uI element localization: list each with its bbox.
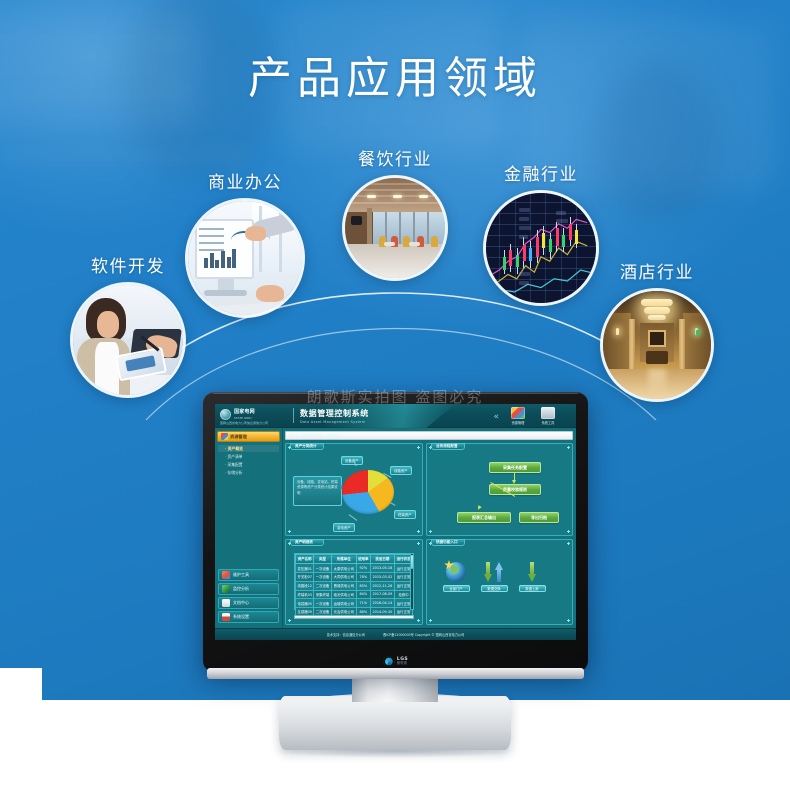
photo-restaurant-hall bbox=[345, 178, 445, 278]
app-title-en: Data Asset Management System bbox=[300, 420, 369, 424]
panel-pin-icon[interactable] bbox=[429, 542, 432, 545]
panel-title: 快捷功能入口 bbox=[431, 539, 465, 546]
sidebar-button-label: 维护工具 bbox=[233, 572, 249, 578]
table-cell-r2c4: 2012-11-26 bbox=[370, 581, 395, 590]
table-cell-r2c3: 85% bbox=[356, 581, 370, 590]
quick-tile-transfer[interactable]: 数据交换 bbox=[479, 562, 509, 592]
table-row[interactable]: 电容器05一次设备运城供电公司71%2016-04-14运行正常 bbox=[296, 599, 413, 608]
table-column-header-0[interactable]: 资产名称 bbox=[296, 555, 314, 564]
table-row[interactable]: 线路段12二次设备晋城供电公司85%2012-11-26运行正常 bbox=[296, 581, 413, 590]
panel-pin-icon[interactable] bbox=[288, 446, 291, 449]
app-sidebar: 资源管理 · 资产概览 · 资产清单 · 采集配置 · 存储分析 维护工具 监控… bbox=[215, 428, 283, 628]
sidebar-button-maintenance-tools[interactable]: 维护工具 bbox=[218, 569, 279, 581]
flow-button-collect[interactable]: 采集任务配置 bbox=[489, 462, 541, 473]
monitor-silver-rim bbox=[207, 668, 584, 679]
category-photo-office bbox=[185, 198, 305, 318]
brand-name-en: STATE GRID bbox=[234, 416, 255, 420]
panel-asset-pie: 资产分类统计 设备、线路、变电站、终端资源等资产分类统计结果说明 设备资产 线路… bbox=[285, 443, 423, 536]
photo-woman-with-tablet bbox=[73, 285, 183, 395]
quick-tile-portal[interactable]: 全景门户 bbox=[441, 562, 471, 592]
color-blocks-icon bbox=[221, 433, 228, 440]
header-tool-resource-manage[interactable]: 资源管理 bbox=[504, 407, 532, 425]
sidebar-item-resource-manage[interactable]: 资源管理 bbox=[217, 431, 280, 442]
pie-callout-3: 变电资产 bbox=[333, 523, 355, 532]
panel-pin-icon[interactable] bbox=[567, 619, 570, 622]
monitor-device: 国家电网 STATE GRID 国网山西省电力公司信息通信分公司 数据管理控制系… bbox=[203, 392, 588, 672]
category-label: 酒店行业 bbox=[557, 258, 757, 283]
panel-process-flow: 业务流程配置 采集任务配置 质量校验规则 报表汇总输出 导出归档 bbox=[426, 443, 573, 536]
table-cell-r3c2: 临汾供电公司 bbox=[331, 590, 356, 599]
table-cell-r4c3: 71% bbox=[356, 599, 370, 608]
collapse-chevron-icon[interactable]: « bbox=[493, 412, 498, 422]
table-cell-r0c4: 2013-05-18 bbox=[370, 564, 395, 573]
breadcrumb-text: 首页 > 数据资产管理 > 资产概览 bbox=[290, 433, 341, 438]
flow-button-report[interactable]: 报表汇总输出 bbox=[457, 512, 511, 523]
quick-tile-upload[interactable]: 数据上报 bbox=[517, 562, 547, 592]
app-brand: 国家电网 STATE GRID bbox=[220, 408, 255, 420]
app-title: 数据管理控制系统 bbox=[300, 408, 369, 419]
category-photo-finance bbox=[483, 190, 599, 306]
panel-pin-icon[interactable] bbox=[288, 542, 291, 545]
footer-support: 技术支持：信息通信分公司 bbox=[327, 632, 365, 637]
table-vertical-scrollbar[interactable] bbox=[410, 553, 414, 610]
up-down-arrows-icon bbox=[483, 562, 505, 582]
table-row[interactable]: 开关柜07一次设备大同供电公司78%2015-03-02运行正常 bbox=[296, 572, 413, 581]
monitor-logo: LGS 朗歌斯 bbox=[383, 656, 408, 667]
pie-callout-2: 终端资产 bbox=[394, 510, 416, 519]
table-cell-r1c0: 开关柜07 bbox=[296, 572, 314, 581]
scrollbar-thumb[interactable] bbox=[296, 616, 381, 618]
table-row[interactable]: 终端机03采集终端临汾供电公司64%2017-08-09检修中 bbox=[296, 590, 413, 599]
flow-arrow-icon bbox=[476, 505, 481, 510]
up-arrow-icon bbox=[521, 562, 543, 582]
app-title-block: 数据管理控制系统 Data Asset Management System bbox=[300, 408, 369, 424]
table-header-row: 资产名称类型所属单位使用率投运日期运行状态 bbox=[296, 555, 413, 564]
panel-quick-entries: 快捷功能入口 全景门户 数据交换 bbox=[426, 539, 573, 625]
table-cell-r4c4: 2016-04-14 bbox=[370, 599, 395, 608]
quick-tile-label: 数据上报 bbox=[519, 585, 546, 592]
photo-stock-candlestick-chart bbox=[486, 193, 596, 303]
panel-title: 资产分类统计 bbox=[290, 443, 324, 450]
monitor-base bbox=[279, 696, 511, 750]
tool-label: 资源管理 bbox=[504, 420, 532, 425]
quick-tile-label: 数据交换 bbox=[481, 585, 508, 592]
app-footer: 技术支持：信息通信分公司 晋ICP备12000000号 Copyright © … bbox=[215, 628, 576, 640]
header-tool-system-tools[interactable]: 系统工具 bbox=[534, 407, 562, 425]
chart-icon bbox=[222, 585, 230, 593]
pie-note-box: 设备、线路、变电站、终端资源等资产分类统计结果说明 bbox=[293, 476, 342, 506]
table-cell-r3c4: 2017-08-09 bbox=[370, 590, 395, 599]
star-icon bbox=[444, 560, 454, 570]
quick-tile-label: 全景门户 bbox=[443, 585, 470, 592]
page-title: 产品应用领域 bbox=[0, 42, 790, 106]
header-divider bbox=[293, 408, 294, 423]
brand-company: 国网山西省电力公司信息通信分公司 bbox=[220, 421, 268, 425]
panel-pin-icon[interactable] bbox=[417, 446, 420, 449]
panel-pin-icon[interactable] bbox=[417, 542, 420, 545]
app-header: 国家电网 STATE GRID 国网山西省电力公司信息通信分公司 数据管理控制系… bbox=[215, 404, 576, 428]
panel-pin-icon[interactable] bbox=[567, 530, 570, 533]
category-photo-catering bbox=[342, 175, 448, 281]
sidebar-button-label: 监控分析 bbox=[233, 586, 249, 592]
panel-pin-icon[interactable] bbox=[417, 530, 420, 533]
monitor-screen[interactable]: 国家电网 STATE GRID 国网山西省电力公司信息通信分公司 数据管理控制系… bbox=[215, 404, 576, 640]
flow-button-export[interactable]: 导出归档 bbox=[519, 512, 559, 523]
category-label: 金融行业 bbox=[441, 160, 641, 185]
brand-name: 国家电网 bbox=[234, 408, 255, 415]
photo-hotel-lobby-chandelier bbox=[603, 291, 711, 399]
pie-note-text: 设备、线路、变电站、终端资源等资产分类统计结果说明 bbox=[297, 480, 338, 495]
table-cell-r4c1: 一次设备 bbox=[314, 599, 331, 608]
sidebar-subitem-2[interactable]: · 采集配置 bbox=[225, 462, 243, 468]
table-cell-r2c0: 线路段12 bbox=[296, 581, 314, 590]
gear-icon bbox=[222, 613, 230, 621]
table-cell-r1c2: 大同供电公司 bbox=[331, 572, 356, 581]
category-label: 商业办公 bbox=[145, 168, 345, 193]
tool-label: 系统工具 bbox=[534, 420, 562, 425]
table-column-header-2[interactable]: 所属单位 bbox=[331, 555, 356, 564]
panel-asset-table: 资产明细表 资产名称类型所属单位使用率投运日期运行状态 变压器01一次设备太原供… bbox=[285, 539, 423, 625]
sidebar-button-monitor-analysis[interactable]: 监控分析 bbox=[218, 583, 279, 595]
sidebar-subitem-0[interactable]: · 资产概览 bbox=[225, 446, 243, 452]
brand-mark-icon bbox=[383, 656, 394, 667]
category-photo-hotel bbox=[600, 288, 714, 402]
table-body: 变压器01一次设备太原供电公司92%2013-05-18运行正常开关柜07一次设… bbox=[296, 564, 413, 617]
asset-data-table[interactable]: 资产名称类型所属单位使用率投运日期运行状态 变压器01一次设备太原供电公司92%… bbox=[294, 553, 414, 610]
panel-pin-icon[interactable] bbox=[567, 446, 570, 449]
monitor-bezel: 国家电网 STATE GRID 国网山西省电力公司信息通信分公司 数据管理控制系… bbox=[203, 392, 588, 672]
category-photo-software bbox=[70, 282, 186, 398]
panel-title: 业务流程配置 bbox=[431, 443, 465, 450]
sidebar-active-label: 资源管理 bbox=[230, 434, 247, 440]
table-cell-r1c1: 一次设备 bbox=[314, 572, 331, 581]
panel-pin-icon[interactable] bbox=[567, 542, 570, 545]
table-cell-r1c4: 2015-03-02 bbox=[370, 572, 395, 581]
photo-desk-monitor-charts bbox=[188, 201, 302, 315]
table-horizontal-scrollbar[interactable] bbox=[294, 615, 414, 619]
table-cell-r2c2: 晋城供电公司 bbox=[331, 581, 356, 590]
panel-pin-icon[interactable] bbox=[417, 619, 420, 622]
table-column-header-4[interactable]: 投运日期 bbox=[370, 555, 395, 564]
panel-title: 资产明细表 bbox=[290, 539, 324, 546]
table-cell-r3c0: 终端机03 bbox=[296, 590, 314, 599]
panel-pin-icon[interactable] bbox=[429, 446, 432, 449]
sidebar-button-label: 系统设置 bbox=[233, 614, 249, 620]
panel-pin-icon[interactable] bbox=[288, 530, 291, 533]
footer-copyright: 晋ICP备12000000号 Copyright © 国网山西省电力公司 bbox=[383, 632, 464, 637]
watermark-text: 朗歌斯实拍图 盗图必究 bbox=[0, 386, 790, 407]
table-row[interactable]: 变压器01一次设备太原供电公司92%2013-05-18运行正常 bbox=[296, 564, 413, 573]
pie-top-face bbox=[342, 470, 394, 514]
table-cell-r2c1: 二次设备 bbox=[314, 581, 331, 590]
state-grid-logo-icon bbox=[220, 409, 231, 420]
sidebar-button-label: 文档中心 bbox=[233, 600, 249, 606]
table-cell-r0c2: 太原供电公司 bbox=[331, 564, 356, 573]
table-cell-r3c1: 采集终端 bbox=[314, 590, 331, 599]
color-blocks-icon bbox=[511, 407, 525, 419]
white-corner bbox=[0, 668, 42, 796]
document-icon bbox=[222, 599, 230, 607]
breadcrumb[interactable]: 首页 > 数据资产管理 > 资产概览 bbox=[285, 431, 573, 440]
table-column-header-1[interactable]: 类型 bbox=[314, 555, 331, 564]
sidebar-button-doc-center[interactable]: 文档中心 bbox=[218, 597, 279, 609]
panel-pin-icon[interactable] bbox=[429, 530, 432, 533]
table-cell-r4c0: 电容器05 bbox=[296, 599, 314, 608]
table-cell-r0c3: 92% bbox=[356, 564, 370, 573]
table-cell-r4c2: 运城供电公司 bbox=[331, 599, 356, 608]
panel-pin-icon[interactable] bbox=[288, 619, 291, 622]
scrollbar-thumb[interactable] bbox=[411, 555, 413, 569]
table-cell-r3c3: 64% bbox=[356, 590, 370, 599]
monitor-logo-subtext: 朗歌斯 bbox=[397, 662, 408, 665]
table-column-header-3[interactable]: 使用率 bbox=[356, 555, 370, 564]
tools-icon bbox=[222, 571, 230, 579]
panel-pin-icon[interactable] bbox=[429, 619, 432, 622]
window-icon bbox=[541, 407, 555, 419]
sidebar-subitem-3[interactable]: · 存储分析 bbox=[225, 470, 243, 476]
sidebar-button-system-settings[interactable]: 系统设置 bbox=[218, 611, 279, 623]
table-cell-r0c0: 变压器01 bbox=[296, 564, 314, 573]
pie-callout-0: 设备资产 bbox=[341, 456, 363, 465]
globe-star-icon bbox=[446, 562, 466, 582]
table-cell-r1c3: 78% bbox=[356, 572, 370, 581]
table-cell-r0c1: 一次设备 bbox=[314, 564, 331, 573]
sidebar-subitem-1[interactable]: · 资产清单 bbox=[225, 454, 243, 460]
asset-pie-chart bbox=[342, 470, 394, 522]
